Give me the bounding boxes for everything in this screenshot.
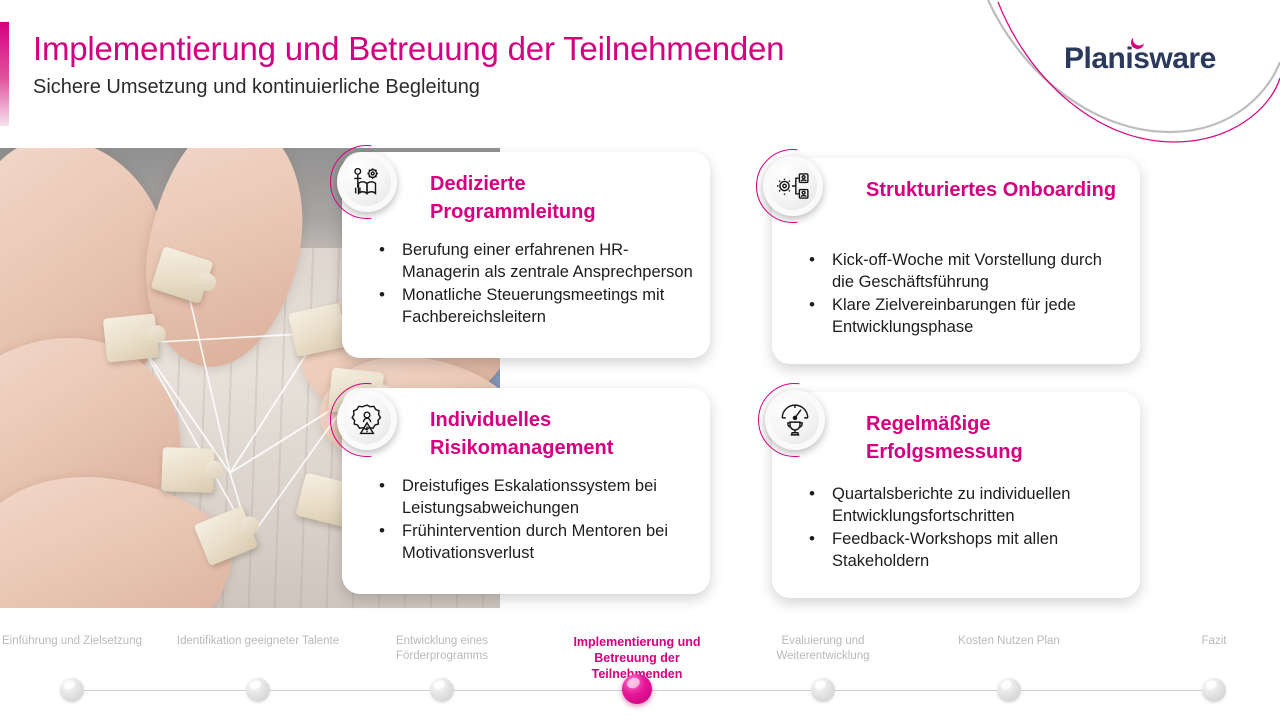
org-structure-icon <box>763 156 823 216</box>
list-item: Feedback-Workshops mit allen Stakeholder… <box>794 529 1126 573</box>
progress-timeline: Einführung und Zielsetzung Identifikatio… <box>0 612 1280 720</box>
card-bullet-list: Quartalsberichte zu individuellen Entwic… <box>794 484 1126 574</box>
timeline-node-active[interactable] <box>622 674 652 704</box>
card-title: Strukturiertes Onboarding <box>866 176 1126 204</box>
timeline-step-3[interactable]: Entwicklung eines Förderprogramms <box>359 612 525 663</box>
timeline-node[interactable] <box>997 678 1021 702</box>
feature-card[interactable]: Dedizierte Programmleitung Berufung eine… <box>342 152 710 358</box>
card-title: Dedizierte Programmleitung <box>430 170 696 227</box>
list-item: Dreistufiges Eskalationssystem bei Leist… <box>364 476 696 520</box>
timeline-node[interactable] <box>1202 678 1226 702</box>
list-item: Monatliche Steuerungsmeetings mit Fachbe… <box>364 285 696 329</box>
list-item: Kick-off-Woche mit Vorstellung durch die… <box>794 250 1126 294</box>
timeline-step-label: Identifikation geeigneter Talente <box>175 612 341 656</box>
slide-header: Implementierung und Betreuung der Teilne… <box>0 0 1280 140</box>
card-bullet-list: Dreistufiges Eskalationssystem bei Leist… <box>364 476 696 566</box>
puzzle-piece <box>103 313 159 362</box>
puzzle-piece <box>161 447 215 493</box>
card-title: Regelmäßige Erfolgsmessung <box>866 410 1126 467</box>
feature-card[interactable]: Regelmäßige Erfolgsmessung Quartalsberic… <box>772 392 1140 598</box>
card-bullet-list: Berufung einer erfahrenen HR-Managerin a… <box>364 240 696 330</box>
timeline-step-5[interactable]: Evaluierung und Weiterentwicklung <box>740 612 906 663</box>
gauge-trophy-icon <box>765 390 825 450</box>
timeline-step-1[interactable]: Einführung und Zielsetzung <box>0 612 155 656</box>
timeline-step-label: Evaluierung und Weiterentwicklung <box>740 612 906 663</box>
feature-card[interactable]: Strukturiertes Onboarding Kick-off-Woche… <box>772 158 1140 364</box>
timeline-step-label: Fazit <box>1131 612 1280 656</box>
list-item: Frühintervention durch Mentoren bei Moti… <box>364 521 696 565</box>
header-accent-bar <box>0 22 9 126</box>
timeline-node[interactable] <box>811 678 835 702</box>
list-item: Berufung einer erfahrenen HR-Managerin a… <box>364 240 696 284</box>
card-bullet-list: Kick-off-Woche mit Vorstellung durch die… <box>794 250 1126 340</box>
feature-card[interactable]: Individuelles Risikomanagement Dreistufi… <box>342 388 710 594</box>
risk-gear-icon <box>337 390 397 450</box>
timeline-step-6[interactable]: Kosten Nutzen Plan <box>926 612 1092 656</box>
slide: Implementierung und Betreuung der Teilne… <box>0 0 1280 720</box>
list-item: Klare Zielvereinbarungen für jede Entwic… <box>794 295 1126 339</box>
timeline-step-4[interactable]: Implementierung und Betreuung der Teilne… <box>554 612 720 682</box>
list-item: Quartalsberichte zu individuellen Entwic… <box>794 484 1126 528</box>
timeline-step-label: Entwicklung eines Förderprogramms <box>359 612 525 663</box>
timeline-node[interactable] <box>430 678 454 702</box>
timeline-node[interactable] <box>60 678 84 702</box>
page-subtitle: Sichere Umsetzung und kontinuierliche Be… <box>33 76 480 99</box>
timeline-step-7[interactable]: Fazit <box>1131 612 1280 656</box>
brand-logo: Planisware <box>980 0 1280 150</box>
timeline-step-2[interactable]: Identifikation geeigneter Talente <box>175 612 341 656</box>
card-title: Individuelles Risikomanagement <box>430 406 696 463</box>
timeline-node[interactable] <box>246 678 270 702</box>
page-title: Implementierung und Betreuung der Teilne… <box>33 30 784 68</box>
timeline-step-label: Einführung und Zielsetzung <box>0 612 155 656</box>
program-leader-icon <box>337 152 397 212</box>
timeline-step-label: Implementierung und Betreuung der Teilne… <box>554 612 720 682</box>
timeline-step-label: Kosten Nutzen Plan <box>926 612 1092 656</box>
